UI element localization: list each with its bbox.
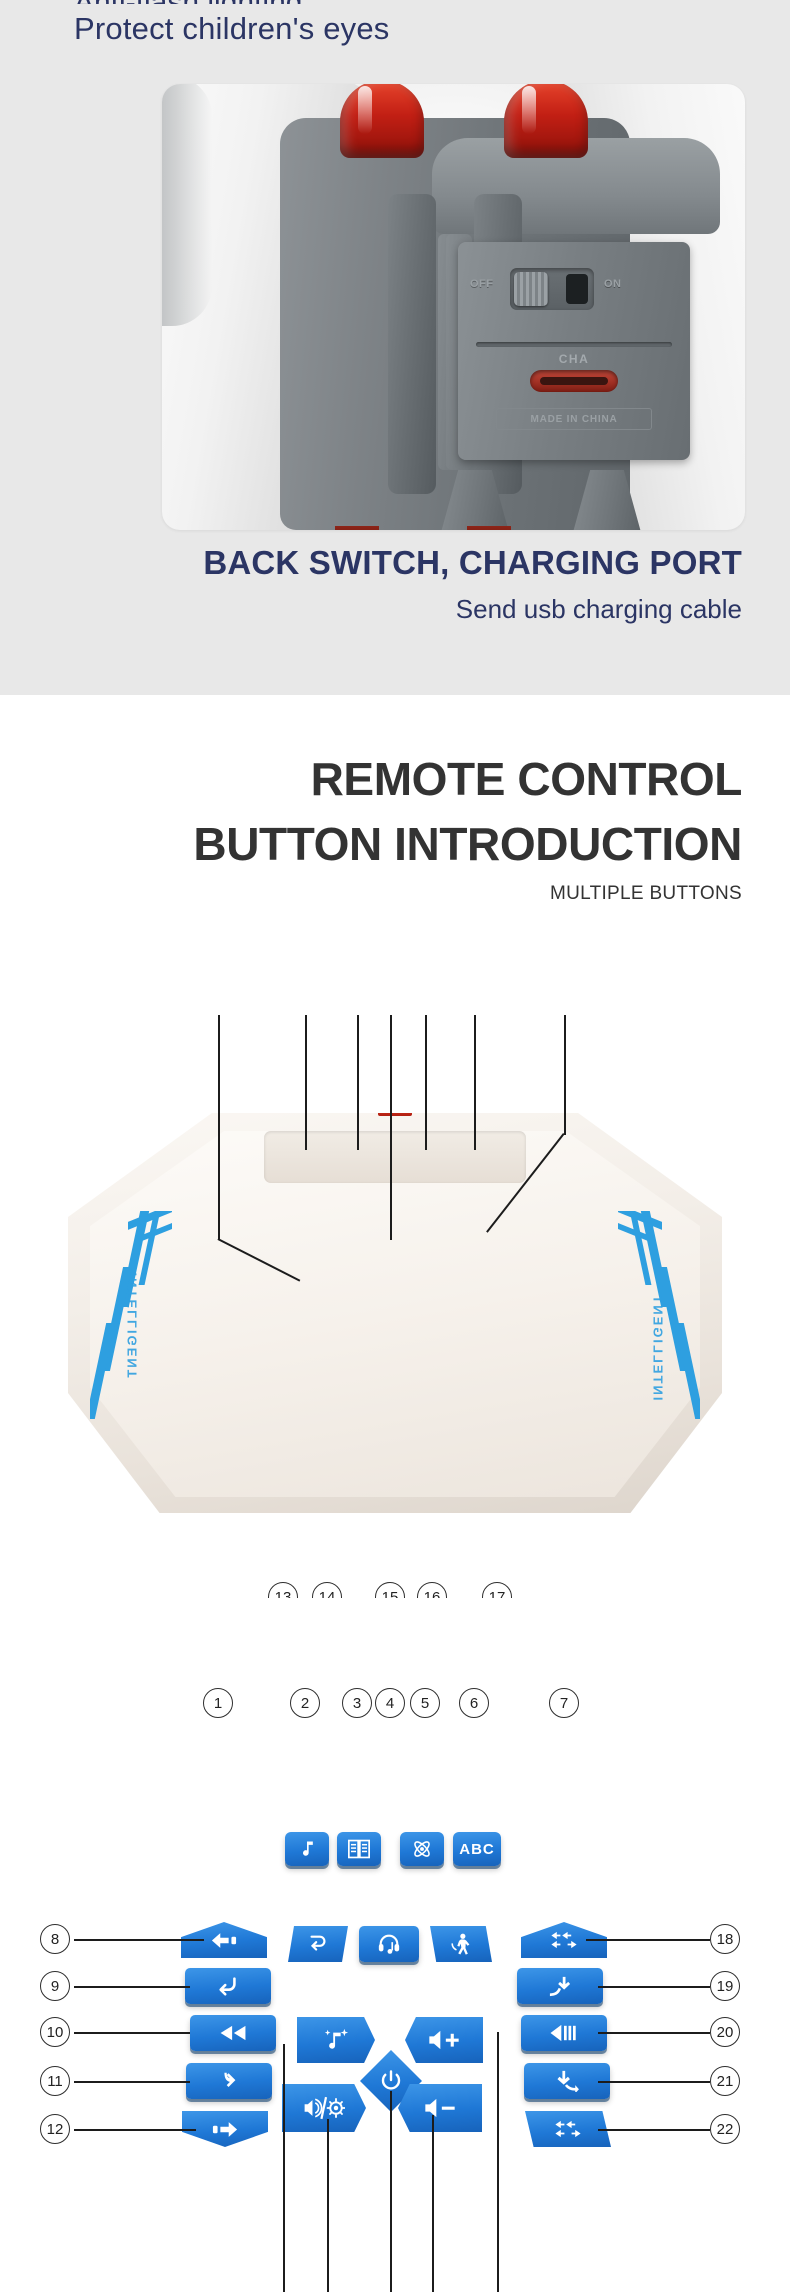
switch-off-label: OFF: [470, 278, 494, 290]
button-rewind[interactable]: [190, 2015, 276, 2051]
button-down-curve[interactable]: [517, 1968, 603, 2004]
switch-on-label: ON: [604, 278, 622, 290]
atom-icon: [411, 1838, 433, 1860]
callout-18: 18: [710, 1924, 740, 1954]
callout-15: 15: [375, 1582, 405, 1598]
deco-graphic-right: INTELLIGENT: [612, 1211, 700, 1425]
button-story-book[interactable]: [337, 1832, 381, 1866]
button-abc[interactable]: ABC: [453, 1832, 501, 1866]
leader-line-6: [474, 1015, 476, 1150]
deco-text-left: INTELLIGENT: [125, 1273, 140, 1401]
callout-1: 1: [203, 1688, 233, 1718]
arrow-right-icon: [212, 2121, 238, 2138]
leader-line-2: [305, 1015, 307, 1150]
button-curve-right[interactable]: [186, 2063, 272, 2099]
red-dome-lamp-right: [504, 84, 588, 158]
leader-line-10: [74, 2032, 190, 2034]
back-panel: OFF ON CHA MADE IN CHINA: [458, 242, 690, 460]
leader-line-15: [390, 2091, 392, 2292]
multi-arrow-icon: [553, 2120, 583, 2138]
clipped-heading-above: Anti-flash lighting: [74, 0, 674, 4]
usb-charging-port: [530, 370, 618, 392]
robot-torso: OFF ON CHA MADE IN CHINA: [280, 118, 630, 530]
leader-line-12: [74, 2129, 196, 2131]
foot-lamp-left: [335, 526, 379, 530]
callout-14: 14: [312, 1582, 342, 1598]
down-curve-icon: [548, 1975, 572, 1997]
page-headline: Protect children's eyes: [74, 8, 390, 50]
callout-17: 17: [482, 1582, 512, 1598]
button-volume-down[interactable]: [398, 2084, 482, 2132]
callout-9: 9: [40, 1971, 70, 2001]
leader-line-14: [327, 2119, 329, 2292]
lamp-highlight: [522, 86, 536, 134]
forward-lines-icon: [549, 2024, 579, 2042]
switch-slot: [566, 274, 588, 304]
callout-7: 7: [549, 1688, 579, 1718]
book-icon: [348, 1839, 370, 1859]
callout-3: 3: [342, 1688, 372, 1718]
leader-line-19: [598, 1986, 710, 1988]
leader-line-22: [598, 2129, 710, 2131]
leader-line-8: [74, 1939, 204, 1941]
callout-8: 8: [40, 1924, 70, 1954]
robot-rail-left: [388, 194, 436, 494]
button-dance[interactable]: [430, 1926, 492, 1962]
button-volume-up[interactable]: [405, 2017, 483, 2063]
remote-intro-section: REMOTE CONTROL BUTTON INTRODUCTION MULTI…: [0, 695, 790, 1598]
button-sound-light-toggle[interactable]: [282, 2084, 366, 2132]
callout-11: 11: [40, 2066, 70, 2096]
button-music[interactable]: [285, 1832, 329, 1866]
button-story-loop[interactable]: [288, 1926, 348, 1962]
sound-light-toggle-icon: [303, 2096, 345, 2120]
callout-20: 20: [710, 2017, 740, 2047]
leader-line-5: [425, 1015, 427, 1150]
callout-4: 4: [375, 1688, 405, 1718]
leader-line-21: [598, 2081, 710, 2083]
red-dome-lamp-left: [340, 84, 424, 158]
callout-21: 21: [710, 2066, 740, 2096]
multi-arrow-icon: [549, 1931, 579, 1949]
remote-inner-face: [90, 1131, 700, 1497]
product-photo-section: Anti-flash lighting Protect children's e…: [0, 0, 790, 695]
made-in-china-label: MADE IN CHINA: [496, 408, 652, 430]
callout-6: 6: [459, 1688, 489, 1718]
callout-2: 2: [290, 1688, 320, 1718]
curve-right-icon: [218, 2070, 240, 2092]
leader-line-1: [218, 1015, 220, 1240]
deco-graphic-left: INTELLIGENT: [90, 1211, 178, 1425]
abc-icon: ABC: [459, 1841, 495, 1858]
button-forward[interactable]: [521, 2015, 607, 2051]
callout-5: 5: [410, 1688, 440, 1718]
robot-back-photo: OFF ON CHA MADE IN CHINA: [162, 84, 745, 530]
arrow-left-icon: [211, 1932, 237, 1949]
charge-label: CHA: [458, 352, 690, 366]
leader-line-20: [598, 2032, 710, 2034]
rewind-icon: [219, 2025, 247, 2041]
music-note-icon: [297, 1839, 317, 1859]
robot-shell-shadow: [162, 84, 212, 326]
turn-left-icon: [216, 1975, 240, 1997]
story-loop-icon: [306, 1933, 330, 1955]
deco-text-right: INTELLIGENT: [651, 1273, 666, 1401]
switch-knob[interactable]: [514, 272, 548, 306]
callout-16: 16: [417, 1582, 447, 1598]
dancing-figure-icon: [449, 1932, 473, 1956]
callout-10: 10: [40, 2017, 70, 2047]
photo-caption-main: BACK SWITCH, CHARGING PORT: [0, 543, 742, 583]
leader-line-11: [74, 2081, 190, 2083]
button-music-sparkle[interactable]: [297, 2017, 375, 2063]
panel-seam: [476, 342, 672, 347]
ir-led: [378, 1104, 412, 1116]
remote-control-body: INTELLIGENT INTELLIGENT: [68, 1113, 722, 1513]
leader-line-16: [432, 2115, 434, 2292]
photo-caption-sub: Send usb charging cable: [0, 592, 742, 626]
button-audio-story[interactable]: [359, 1926, 419, 1962]
leader-line-3: [357, 1015, 359, 1150]
volume-up-icon: [427, 2029, 461, 2051]
button-turn-left[interactable]: [185, 1968, 271, 2004]
foot-lamp-right: [467, 526, 511, 530]
callout-22: 22: [710, 2114, 740, 2144]
callout-19: 19: [710, 1971, 740, 2001]
lamp-highlight: [358, 86, 372, 134]
power-switch-well[interactable]: [510, 268, 594, 310]
callout-12: 12: [40, 2114, 70, 2144]
top-button-well: [264, 1131, 526, 1183]
bottom-callout-row: 13 14 15 16 17: [0, 1562, 790, 1598]
power-icon: [379, 2069, 403, 2093]
remote-diagram: INTELLIGENT INTELLIGENT ABC: [0, 695, 790, 1598]
button-science[interactable]: [400, 1832, 444, 1866]
usb-port-slot: [540, 377, 608, 385]
leader-line-17: [497, 2032, 499, 2292]
music-sparkle-icon: [322, 2027, 350, 2053]
leader-line-18: [586, 1939, 710, 1941]
leader-line-13: [283, 2044, 285, 2292]
callout-13: 13: [268, 1582, 298, 1598]
leader-line-9: [74, 1986, 190, 1988]
leader-line-7: [564, 1015, 566, 1135]
volume-down-icon: [423, 2097, 457, 2119]
headphones-music-icon: [377, 1932, 401, 1956]
leader-line-4: [390, 1015, 392, 1240]
down-curve-right-icon: [555, 2070, 579, 2092]
